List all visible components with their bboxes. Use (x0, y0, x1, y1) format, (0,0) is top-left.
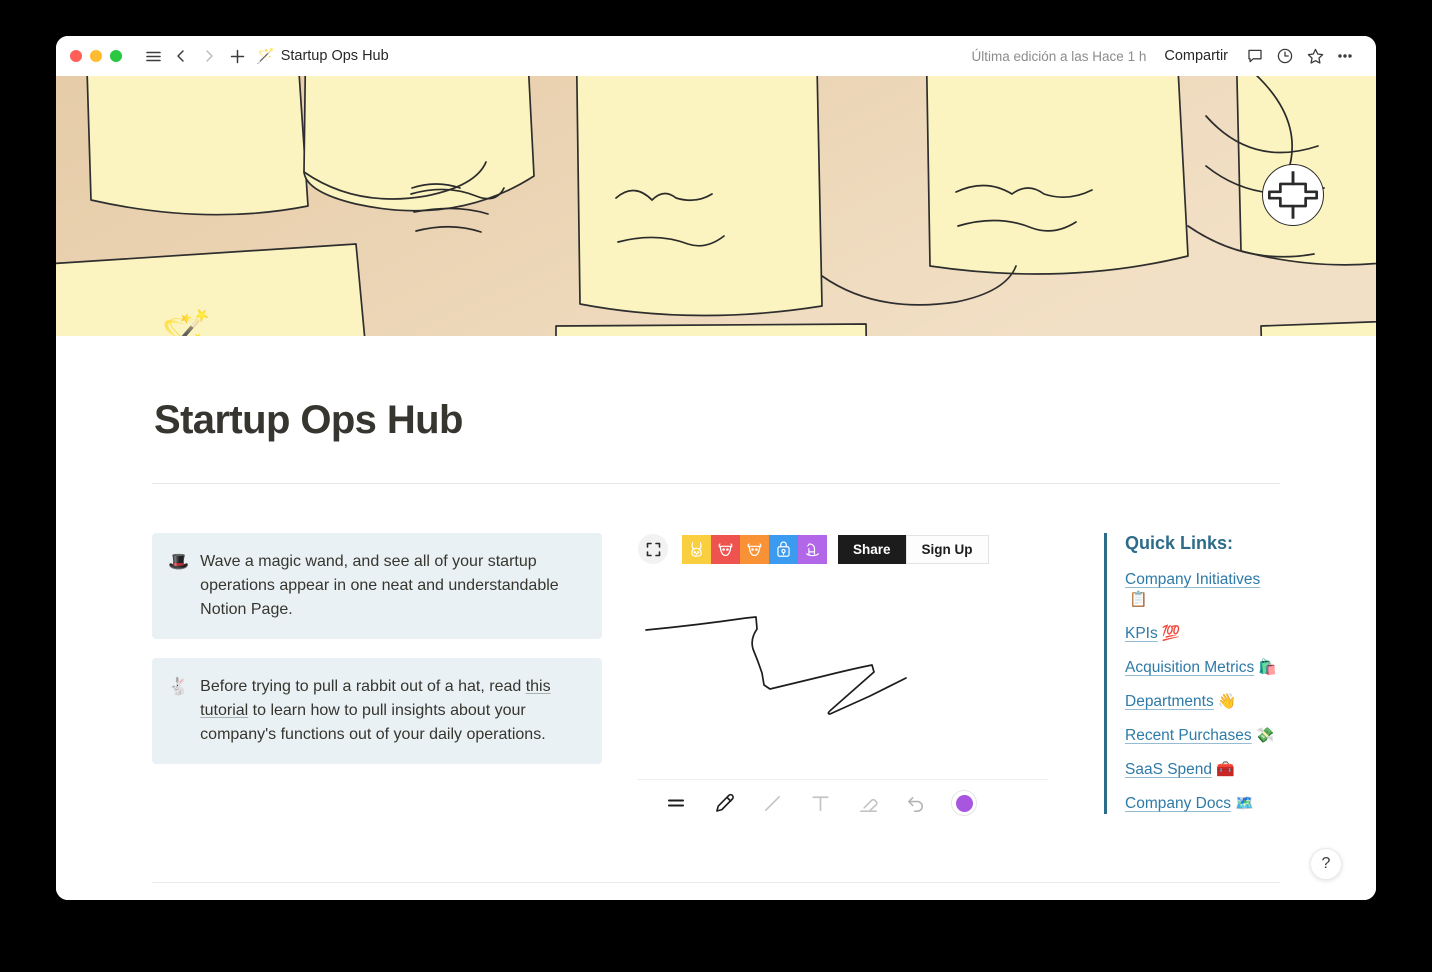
quick-link-saas-spend[interactable]: SaaS Spend (1125, 761, 1212, 778)
quick-link-recent-purchases[interactable]: Recent Purchases (1125, 727, 1252, 744)
toolbox-emoji-icon: 🧰 (1216, 761, 1235, 778)
eraser-tool-icon[interactable] (844, 783, 892, 823)
map-emoji-icon: 🗺️ (1235, 795, 1254, 812)
minimize-window-button[interactable] (90, 50, 102, 62)
color-swatch-ring (951, 790, 977, 816)
traffic-lights (70, 50, 122, 62)
new-page-icon[interactable] (224, 43, 250, 69)
page-emoji-icon: 🪄 (256, 49, 275, 64)
page-body: Startup Ops Hub 🎩 Wave a magic wand, and… (56, 336, 1376, 900)
waving-hand-emoji-icon: 👋 (1218, 693, 1237, 710)
quick-link-kpis[interactable]: KPIs (1125, 625, 1158, 642)
quick-link-acquisition-metrics[interactable]: Acquisition Metrics (1125, 659, 1254, 676)
last-edited-text: Última edición a las Hace 1 h (972, 49, 1147, 64)
drag-handle-icon[interactable] (652, 783, 700, 823)
drawing-embed-column: Share Sign Up (638, 533, 1048, 828)
puzzle-plus-badge-icon (1262, 164, 1324, 226)
section-divider (152, 882, 1280, 883)
current-color-dot (956, 795, 973, 812)
callout-text: Before trying to pull a rabbit out of a … (200, 675, 586, 747)
quick-link-company-docs[interactable]: Company Docs (1125, 795, 1231, 812)
callout-body-after: to learn how to pull insights about your… (200, 702, 545, 743)
drawing-toolbar (638, 780, 1048, 826)
maximize-window-button[interactable] (110, 50, 122, 62)
embed-signup-button[interactable]: Sign Up (906, 535, 989, 564)
comments-icon[interactable] (1242, 43, 1268, 69)
help-button[interactable]: ? (1310, 848, 1342, 880)
titlebar-nav (140, 43, 250, 69)
forward-icon[interactable] (196, 43, 222, 69)
titlebar-actions: Última edición a las Hace 1 h Compartir (972, 43, 1359, 69)
fullscreen-icon[interactable] (638, 534, 668, 564)
quick-links-title: Quick Links: (1125, 533, 1280, 554)
embed-toolbar: Share Sign Up (638, 533, 1048, 565)
pen-tool-icon[interactable] (700, 783, 748, 823)
callout-body-before: Before trying to pull a rabbit out of a … (200, 678, 526, 695)
quick-links-column: Quick Links: Company Initiatives📋 KPIs💯 … (1104, 533, 1280, 828)
clipboard-emoji-icon: 📋 (1129, 591, 1148, 608)
text-tool-icon[interactable] (796, 783, 844, 823)
quick-link-departments[interactable]: Departments (1125, 693, 1214, 710)
list-item[interactable]: SaaS Spend🧰 (1125, 760, 1280, 780)
swatch-cow-red[interactable] (711, 535, 740, 564)
page-content: Startup Ops Hub 🎩 Wave a magic wand, and… (152, 336, 1280, 900)
callout-body: Wave a magic wand, and see all of your s… (200, 553, 559, 618)
color-picker-button[interactable] (940, 783, 988, 823)
hundred-points-emoji-icon: 💯 (1162, 625, 1181, 642)
app-window: 🪄 Startup Ops Hub Última edición a las H… (56, 36, 1376, 900)
swatch-lock-bag[interactable] (769, 535, 798, 564)
rabbit-emoji-icon: 🐇 (168, 675, 189, 747)
swatch-cow-orange[interactable] (740, 535, 769, 564)
updates-clock-icon[interactable] (1272, 43, 1298, 69)
quick-links-block: Quick Links: Company Initiatives📋 KPIs💯 … (1104, 533, 1280, 814)
title-divider (152, 483, 1280, 484)
money-wings-emoji-icon: 💸 (1256, 727, 1275, 744)
list-item[interactable]: Recent Purchases💸 (1125, 726, 1280, 746)
window-titlebar: 🪄 Startup Ops Hub Última edición a las H… (56, 36, 1376, 76)
more-options-icon[interactable] (1332, 43, 1358, 69)
three-column-layout: 🎩 Wave a magic wand, and see all of your… (152, 533, 1280, 828)
swatch-bunny[interactable] (682, 535, 711, 564)
share-button[interactable]: Compartir (1164, 48, 1228, 64)
embed-share-button[interactable]: Share (838, 535, 906, 564)
sidebar-toggle-icon[interactable] (140, 43, 166, 69)
list-item[interactable]: Company Initiatives📋 (1125, 570, 1280, 610)
callouts-column: 🎩 Wave a magic wand, and see all of your… (152, 533, 602, 828)
swatch-rocking-horse[interactable] (798, 535, 827, 564)
quick-link-company-initiatives[interactable]: Company Initiatives (1125, 571, 1260, 588)
callout-tutorial[interactable]: 🐇 Before trying to pull a rabbit out of … (152, 658, 602, 764)
shopping-bags-emoji-icon: 🛍️ (1258, 659, 1277, 676)
line-tool-icon[interactable] (748, 783, 796, 823)
favorite-star-icon[interactable] (1302, 43, 1328, 69)
drawing-canvas[interactable] (638, 587, 1048, 773)
breadcrumb[interactable]: 🪄 Startup Ops Hub (256, 48, 389, 64)
callout-text: Wave a magic wand, and see all of your s… (200, 550, 586, 622)
breadcrumb-title[interactable]: Startup Ops Hub (281, 48, 389, 64)
top-hat-emoji-icon: 🎩 (168, 550, 189, 622)
page-cover-image[interactable]: 🪄 (56, 76, 1376, 336)
close-window-button[interactable] (70, 50, 82, 62)
list-item[interactable]: Acquisition Metrics🛍️ (1125, 658, 1280, 678)
page-title[interactable]: Startup Ops Hub (152, 398, 1280, 443)
undo-icon[interactable] (892, 783, 940, 823)
callout-magic-wand[interactable]: 🎩 Wave a magic wand, and see all of your… (152, 533, 602, 639)
list-item[interactable]: Company Docs🗺️ (1125, 794, 1280, 814)
back-icon[interactable] (168, 43, 194, 69)
list-item[interactable]: Departments👋 (1125, 692, 1280, 712)
list-item[interactable]: KPIs💯 (1125, 624, 1280, 644)
